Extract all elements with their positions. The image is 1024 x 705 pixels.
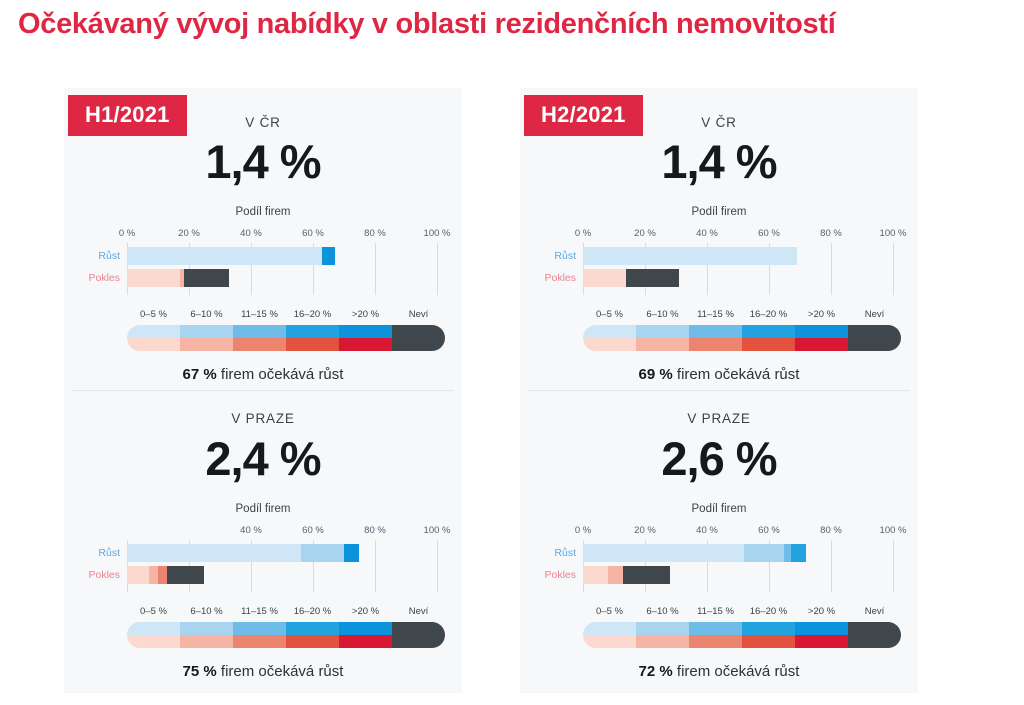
panel-h2-2021: H2/2021V ČR1,4 %Podíl firem0 %20 %40 %60…	[520, 88, 918, 693]
legend-cell	[339, 622, 392, 648]
bar-growth	[583, 247, 797, 265]
legend-cell-decline	[795, 635, 848, 648]
axis-label: 0 %	[575, 228, 591, 239]
legend-cell-growth	[339, 622, 392, 635]
legend-label: 16–20 %	[750, 606, 788, 617]
legend-cell-decline	[636, 338, 689, 351]
legend-cell-growth	[339, 325, 392, 338]
headline-value: 2,4 %	[64, 431, 462, 486]
legend-label: 16–20 %	[750, 309, 788, 320]
legend-cell-growth	[233, 622, 286, 635]
page-title: Očekávaný vývoj nabídky v oblasti rezide…	[18, 8, 1008, 41]
bar-decline	[583, 269, 679, 287]
panel-h1-2021: H1/2021V ČR1,4 %Podíl firem0 %20 %40 %60…	[64, 88, 462, 693]
legend-cell-growth	[636, 622, 689, 635]
legend-cell-growth	[180, 622, 233, 635]
legend-cell	[180, 325, 233, 351]
legend-cell-growth	[583, 622, 636, 635]
legend-cell	[392, 325, 445, 351]
legend-cell-decline	[339, 338, 392, 351]
panel-section-praha: V PRAZE2,6 %Podíl firem0 %20 %40 %60 %80…	[520, 391, 918, 693]
legend-gradient-bar	[127, 622, 445, 648]
legend-cell-growth	[689, 325, 742, 338]
series-label-decline: Pokles	[520, 569, 576, 581]
series-label-growth: Růst	[520, 250, 576, 262]
axis-label: 100 %	[880, 228, 907, 239]
bar-segment	[583, 247, 797, 265]
legend-cell	[233, 325, 286, 351]
legend-cell-decline	[286, 338, 339, 351]
region-title: V ČR	[64, 115, 462, 130]
bar-segment	[127, 544, 301, 562]
axis-tick	[375, 540, 376, 592]
bar-growth	[127, 544, 360, 562]
legend-cell-decline	[742, 338, 795, 351]
axis-tick	[831, 540, 832, 592]
bar-segment	[583, 544, 744, 562]
legend-gradient-bar	[583, 325, 901, 351]
bar-segment-nevi	[184, 269, 229, 287]
legend-cell	[127, 325, 180, 351]
legend-cell	[286, 622, 339, 648]
bar-segment-nevi	[626, 269, 679, 287]
legend-cell-decline	[180, 338, 233, 351]
legend-cell-decline	[689, 635, 742, 648]
legend-cell	[689, 622, 742, 648]
legend-cell-growth	[795, 325, 848, 338]
series-label-growth: Růst	[64, 547, 120, 559]
summary-value: 75 %	[183, 663, 217, 680]
legend-cell	[636, 622, 689, 648]
bar-segment	[608, 566, 624, 584]
axis-label: 20 %	[634, 525, 656, 536]
legend-label: Neví	[409, 606, 429, 617]
panel-section-praha: V PRAZE2,4 %Podíl firem40 %60 %80 %100 %…	[64, 391, 462, 693]
axis-tick	[437, 540, 438, 592]
legend-label: 16–20 %	[294, 606, 332, 617]
region-title: V ČR	[520, 115, 918, 130]
summary-text: 75 % firem očekává růst	[64, 663, 462, 680]
axis-tick	[437, 243, 438, 295]
legend-cell	[286, 325, 339, 351]
chart-caption: Podíl firem	[64, 206, 462, 218]
axis-tick	[375, 243, 376, 295]
legend-cell-decline	[233, 635, 286, 648]
legend-label: >20 %	[352, 606, 379, 617]
axis-tick	[893, 540, 894, 592]
chart-caption: Podíl firem	[520, 206, 918, 218]
legend-label: 16–20 %	[294, 309, 332, 320]
axis-label: 100 %	[424, 525, 451, 536]
axis-label: 40 %	[240, 525, 262, 536]
summary-text: 72 % firem očekává růst	[520, 663, 918, 680]
legend-cell	[339, 325, 392, 351]
legend-cell-growth	[848, 325, 901, 338]
chart-caption: Podíl firem	[520, 503, 918, 515]
axis-label: 80 %	[364, 525, 386, 536]
legend-cell-decline	[233, 338, 286, 351]
bar-segment	[583, 566, 608, 584]
legend-cell	[180, 622, 233, 648]
panel-section-cr: H2/2021V ČR1,4 %Podíl firem0 %20 %40 %60…	[520, 88, 918, 390]
axis-label: 100 %	[424, 228, 451, 239]
bar-segment	[744, 544, 784, 562]
bar-segment	[127, 269, 180, 287]
legend-label: 11–15 %	[697, 309, 734, 320]
bar-growth	[583, 544, 806, 562]
axis-label: 80 %	[820, 525, 842, 536]
axis-label: 80 %	[820, 228, 842, 239]
region-title: V PRAZE	[64, 411, 462, 426]
legend-cell-decline	[848, 635, 901, 648]
bar-growth	[127, 247, 335, 265]
legend-label: 0–5 %	[140, 309, 167, 320]
legend-label: >20 %	[808, 606, 835, 617]
legend-cell	[742, 622, 795, 648]
axis-label: 40 %	[696, 525, 718, 536]
legend-cell-decline	[689, 338, 742, 351]
legend-cell-growth	[392, 325, 445, 338]
legend-label: 6–10 %	[190, 606, 222, 617]
headline-value: 2,6 %	[520, 431, 918, 486]
summary-text: 69 % firem očekává růst	[520, 366, 918, 383]
legend-cell-growth	[636, 325, 689, 338]
legend-label: 6–10 %	[190, 309, 222, 320]
summary-value: 69 %	[639, 366, 673, 383]
bar-segment	[149, 566, 158, 584]
headline-value: 1,4 %	[64, 134, 462, 189]
legend-cell	[583, 622, 636, 648]
legend-cell-decline	[848, 338, 901, 351]
axis-label: 0 %	[575, 525, 591, 536]
bar-decline	[127, 566, 205, 584]
bar-segment	[127, 566, 149, 584]
legend-cell-decline	[636, 635, 689, 648]
series-label-decline: Pokles	[64, 569, 120, 581]
summary-value: 72 %	[639, 663, 673, 680]
legend-label: 11–15 %	[697, 606, 734, 617]
legend-cell-growth	[127, 325, 180, 338]
legend-label: 6–10 %	[646, 606, 678, 617]
legend-cell	[742, 325, 795, 351]
legend-label: Neví	[865, 606, 885, 617]
headline-value: 1,4 %	[520, 134, 918, 189]
legend-cell-decline	[795, 338, 848, 351]
legend-cell-decline	[339, 635, 392, 648]
legend-cell-growth	[286, 325, 339, 338]
legend-cell-growth	[127, 622, 180, 635]
legend-cell	[848, 325, 901, 351]
bar-decline	[583, 566, 670, 584]
legend-label: 0–5 %	[140, 606, 167, 617]
legend-label: >20 %	[352, 309, 379, 320]
axis-label: 100 %	[880, 525, 907, 536]
series-label-growth: Růst	[64, 250, 120, 262]
legend-label: Neví	[409, 309, 429, 320]
series-label-decline: Pokles	[64, 272, 120, 284]
legend-cell	[233, 622, 286, 648]
legend-label: Neví	[865, 309, 885, 320]
axis-label: 80 %	[364, 228, 386, 239]
legend-cell	[127, 622, 180, 648]
axis-label: 0 %	[119, 228, 135, 239]
legend-cell-growth	[689, 622, 742, 635]
legend-cell-growth	[392, 622, 445, 635]
legend-label: 0–5 %	[596, 309, 623, 320]
axis-label: 60 %	[758, 228, 780, 239]
axis-label: 20 %	[178, 228, 200, 239]
region-title: V PRAZE	[520, 411, 918, 426]
legend-cell	[848, 622, 901, 648]
legend-cell-decline	[180, 635, 233, 648]
bar-segment	[158, 566, 167, 584]
legend-cell-decline	[392, 338, 445, 351]
legend-cell-growth	[795, 622, 848, 635]
axis-tick	[893, 243, 894, 295]
bar-segment	[301, 544, 344, 562]
chart-caption: Podíl firem	[64, 503, 462, 515]
legend-cell-growth	[583, 325, 636, 338]
legend-cell	[583, 325, 636, 351]
legend-gradient-bar	[583, 622, 901, 648]
axis-tick	[831, 243, 832, 295]
legend-cell-growth	[742, 325, 795, 338]
legend-cell-growth	[286, 622, 339, 635]
legend-cell-decline	[286, 635, 339, 648]
axis-label: 60 %	[302, 525, 324, 536]
axis-label: 60 %	[302, 228, 324, 239]
legend-label: 6–10 %	[646, 309, 678, 320]
axis-label: 40 %	[240, 228, 262, 239]
summary-text: 67 % firem očekává růst	[64, 366, 462, 383]
series-label-growth: Růst	[520, 547, 576, 559]
bar-segment-nevi	[623, 566, 670, 584]
axis-label: 20 %	[634, 228, 656, 239]
legend-cell-decline	[127, 635, 180, 648]
bar-segment-nevi	[167, 566, 204, 584]
legend-cell-growth	[742, 622, 795, 635]
bar-decline	[127, 269, 229, 287]
legend-cell	[795, 622, 848, 648]
summary-value: 67 %	[183, 366, 217, 383]
bar-segment	[583, 269, 626, 287]
bar-segment	[791, 544, 807, 562]
legend-label: 11–15 %	[241, 309, 278, 320]
legend-cell	[795, 325, 848, 351]
legend-gradient-bar	[127, 325, 445, 351]
legend-cell	[689, 325, 742, 351]
legend-cell-decline	[742, 635, 795, 648]
legend-label: >20 %	[808, 309, 835, 320]
legend-cell-decline	[127, 338, 180, 351]
legend-cell-decline	[583, 338, 636, 351]
legend-label: 11–15 %	[241, 606, 278, 617]
legend-cell-decline	[583, 635, 636, 648]
legend-cell-growth	[848, 622, 901, 635]
legend-label: 0–5 %	[596, 606, 623, 617]
bar-segment	[322, 247, 334, 265]
legend-cell-decline	[392, 635, 445, 648]
series-label-decline: Pokles	[520, 272, 576, 284]
bar-segment	[127, 247, 322, 265]
legend-cell-growth	[233, 325, 286, 338]
legend-cell-growth	[180, 325, 233, 338]
axis-label: 60 %	[758, 525, 780, 536]
panel-section-cr: H1/2021V ČR1,4 %Podíl firem0 %20 %40 %60…	[64, 88, 462, 390]
bar-segment	[344, 544, 360, 562]
legend-cell	[636, 325, 689, 351]
legend-cell	[392, 622, 445, 648]
axis-label: 40 %	[696, 228, 718, 239]
